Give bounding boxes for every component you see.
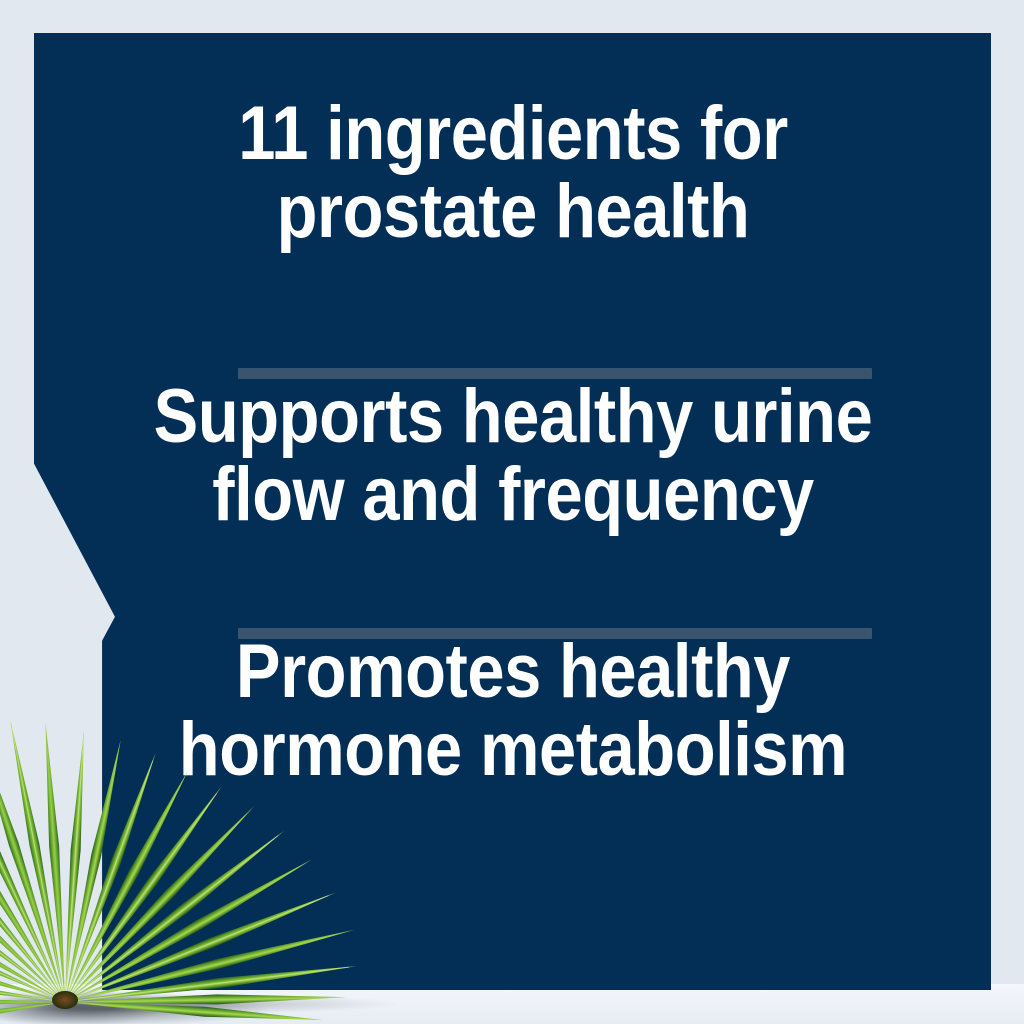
claims-column: 11 ingredients for prostate health Suppo… [34,33,991,990]
floor-surface [0,984,1024,1024]
claim-text-3: Promotes healthy hormone metabolism [117,633,909,790]
claim-text-1: 11 ingredients for prostate health [117,95,909,252]
claim-text-2: Supports healthy urine flow and frequenc… [117,378,909,535]
benefit-callout-graphic: 11 ingredients for prostate health Suppo… [0,0,1024,1024]
